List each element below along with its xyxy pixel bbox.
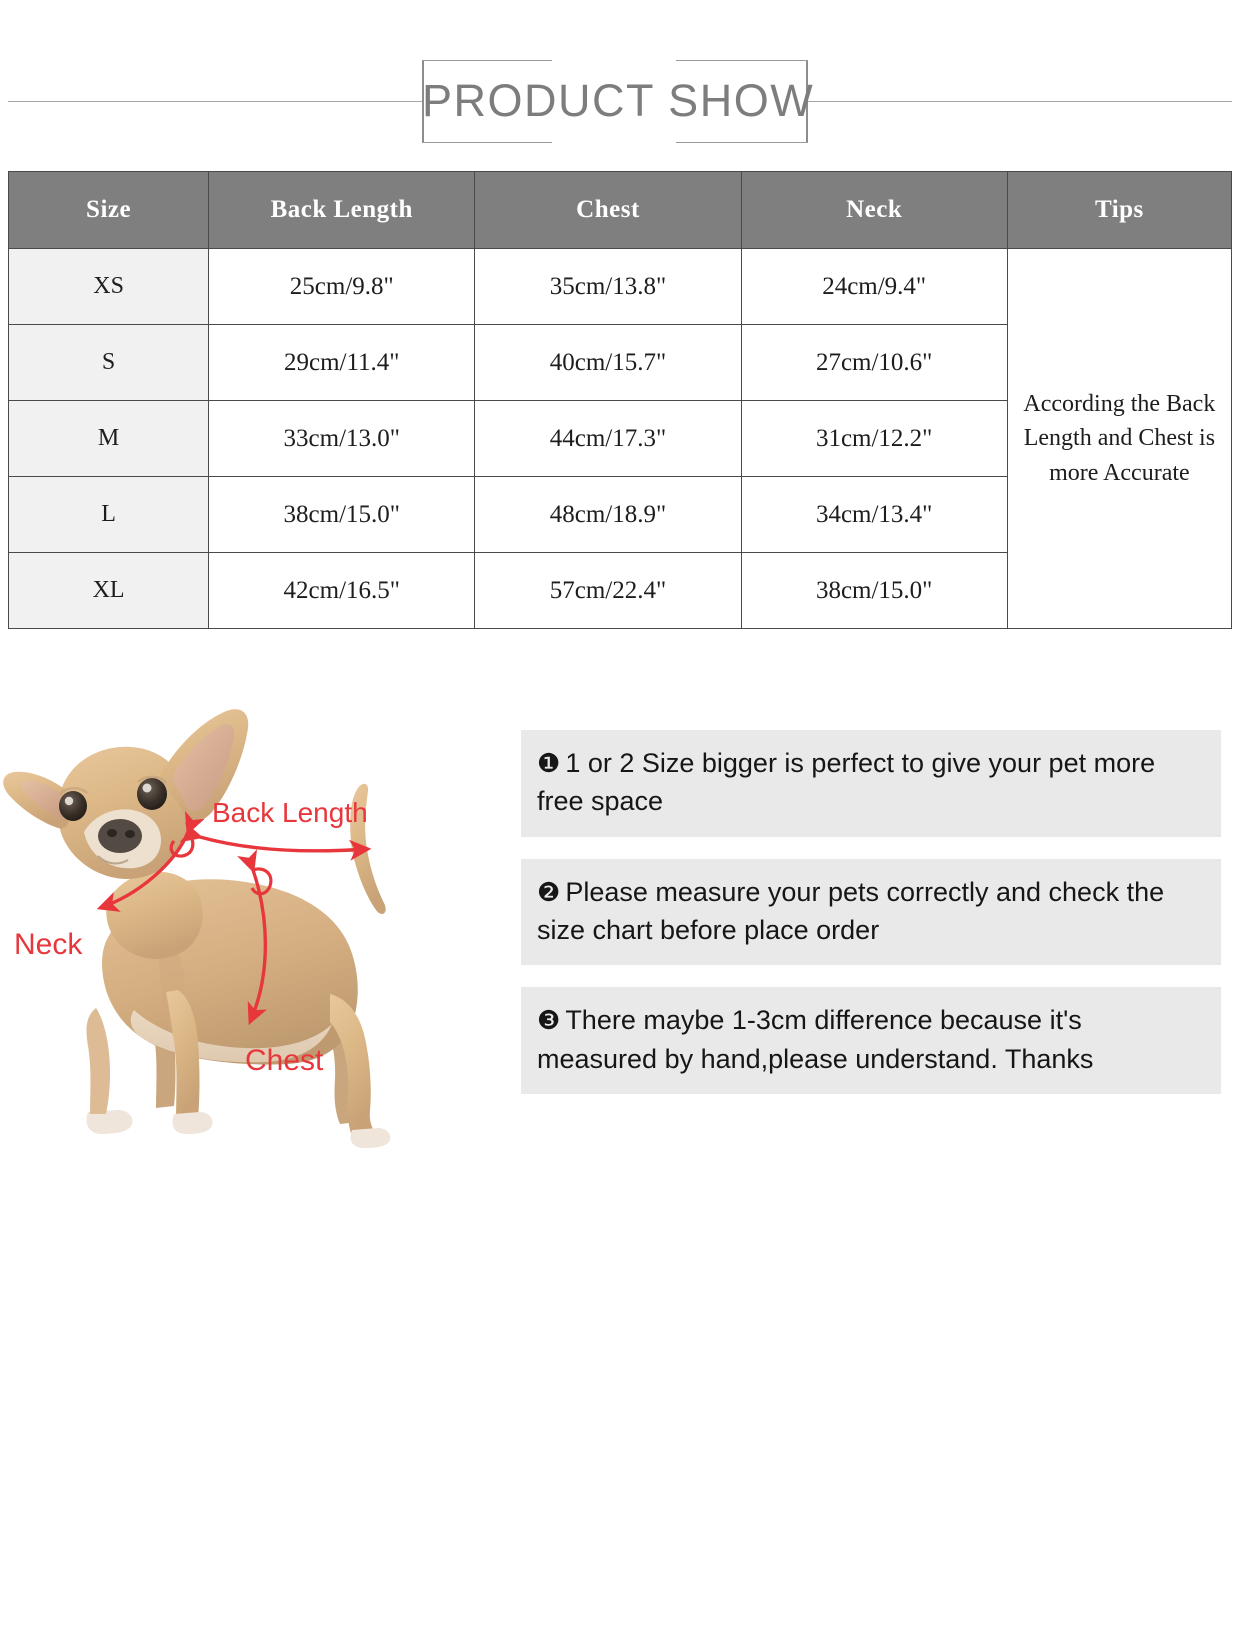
cell-neck: 24cm/9.4": [741, 249, 1007, 325]
cell-back-length: 33cm/13.0": [209, 401, 475, 477]
page-header-banner: PRODUCT SHOW: [0, 52, 1242, 150]
size-chart-table: Size Back Length Chest Neck Tips XS 25cm…: [8, 171, 1232, 629]
header-rule-right: [808, 101, 1232, 102]
dog-nose: [98, 819, 142, 853]
cell-neck: 38cm/15.0": [741, 553, 1007, 629]
cell-size: XL: [9, 553, 209, 629]
header-frame-bottom-left: [422, 142, 552, 143]
back-length-label: Back Length: [212, 797, 368, 828]
neck-label: Neck: [14, 928, 83, 961]
table-row: XS 25cm/9.8" 35cm/13.8" 24cm/9.4" Accord…: [9, 249, 1232, 325]
cell-tips: According the Back Length and Chest is m…: [1007, 249, 1231, 629]
cell-size: XS: [9, 249, 209, 325]
cell-neck: 27cm/10.6": [741, 325, 1007, 401]
cell-back-length: 38cm/15.0": [209, 477, 475, 553]
cell-size: M: [9, 401, 209, 477]
tip-bullet-1-icon: ❶: [537, 748, 560, 778]
header-frame-bottom-right: [676, 142, 808, 143]
cell-back-length: 25cm/9.8": [209, 249, 475, 325]
cell-chest: 57cm/22.4": [475, 553, 741, 629]
cell-chest: 48cm/18.9": [475, 477, 741, 553]
tips-panel: ❶1 or 2 Size bigger is perfect to give y…: [521, 730, 1221, 1116]
cell-neck: 34cm/13.4": [741, 477, 1007, 553]
dog-front-paw-near: [173, 1112, 213, 1134]
column-header-tips: Tips: [1007, 172, 1231, 249]
tip-item-2: ❷Please measure your pets correctly and …: [521, 859, 1221, 966]
tip-item-1: ❶1 or 2 Size bigger is perfect to give y…: [521, 730, 1221, 837]
tip-text-1: 1 or 2 Size bigger is perfect to give yo…: [537, 748, 1155, 816]
tip-text-2: Please measure your pets correctly and c…: [537, 877, 1164, 945]
column-header-neck: Neck: [741, 172, 1007, 249]
chest-label: Chest: [245, 1044, 324, 1077]
column-header-back-length: Back Length: [209, 172, 475, 249]
tip-bullet-3-icon: ❸: [537, 1005, 560, 1035]
cell-chest: 44cm/17.3": [475, 401, 741, 477]
cell-neck: 31cm/12.2": [741, 401, 1007, 477]
table-header-row: Size Back Length Chest Neck Tips: [9, 172, 1232, 249]
column-header-chest: Chest: [475, 172, 741, 249]
cell-chest: 40cm/15.7": [475, 325, 741, 401]
tip-bullet-2-icon: ❷: [537, 877, 560, 907]
cell-size: L: [9, 477, 209, 553]
dog-nostril-left: [107, 829, 117, 837]
page-title: PRODUCT SHOW: [422, 60, 808, 142]
column-header-size: Size: [9, 172, 209, 249]
dog-eye-right-highlight: [143, 784, 152, 793]
dog-eye-right: [137, 778, 167, 810]
cell-back-length: 42cm/16.5": [209, 553, 475, 629]
dog-eye-left-highlight: [65, 797, 73, 805]
cell-back-length: 29cm/11.4": [209, 325, 475, 401]
header-rule-left: [8, 101, 422, 102]
tip-text-3: There maybe 1-3cm difference because it'…: [537, 1005, 1093, 1073]
dog-eye-left: [59, 791, 87, 821]
dog-nostril-right: [125, 830, 135, 838]
dog-measurement-illustration: Back Length Neck Chest: [0, 690, 500, 1179]
tip-item-3: ❸There maybe 1-3cm difference because it…: [521, 987, 1221, 1094]
dog-rear-paw: [351, 1128, 391, 1148]
cell-size: S: [9, 325, 209, 401]
scrollbar-track[interactable]: [1226, 690, 1240, 1179]
cell-chest: 35cm/13.8": [475, 249, 741, 325]
